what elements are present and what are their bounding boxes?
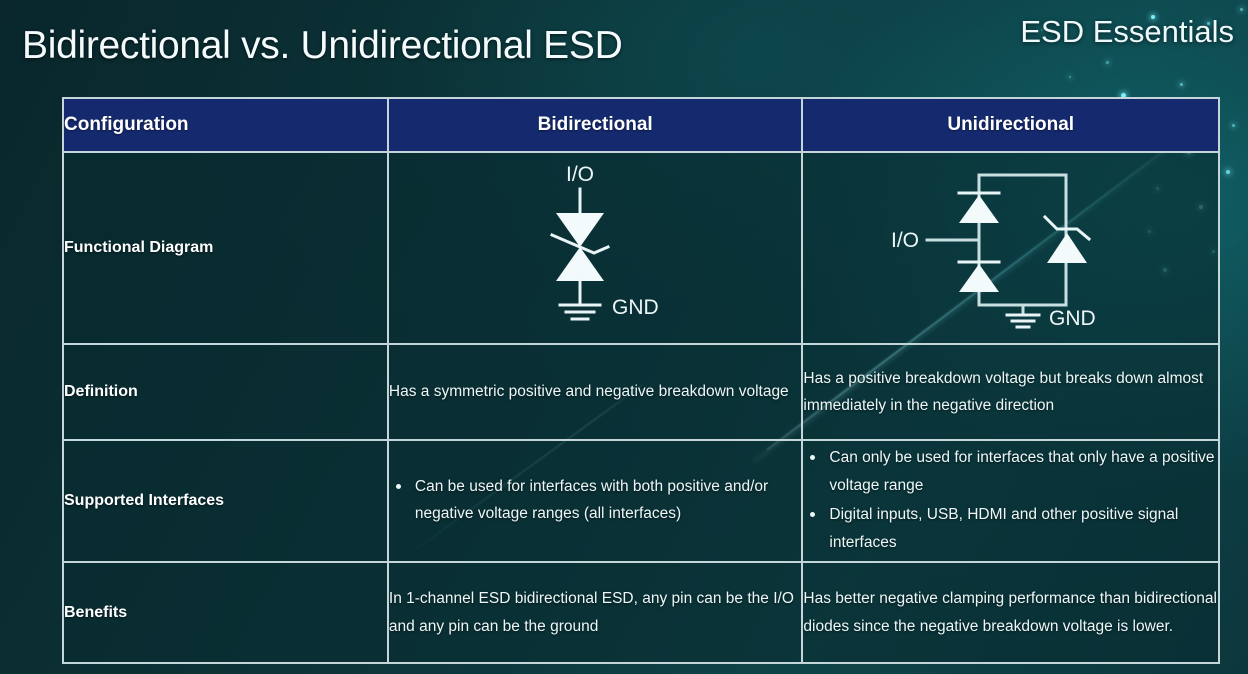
bidirectional-tvs-diode-schematic: I/O xyxy=(480,155,710,335)
list-item: Can only be used for interfaces that onl… xyxy=(803,444,1218,499)
gnd-label-bi: GND xyxy=(612,296,659,319)
cell-bidirectional-definition: Has a symmetric positive and negative br… xyxy=(388,344,802,440)
table-header-row: Configuration Bidirectional Unidirection… xyxy=(63,98,1219,152)
star-dot xyxy=(1069,76,1071,78)
star-dot xyxy=(1226,170,1230,174)
list-item: Digital inputs, USB, HDMI and other posi… xyxy=(803,501,1218,556)
star-dot xyxy=(1240,8,1243,11)
column-header-bidirectional: Bidirectional xyxy=(388,98,802,152)
column-header-configuration: Configuration xyxy=(63,98,388,152)
bullet-list: Can only be used for interfaces that onl… xyxy=(803,444,1218,556)
row-label-functional-diagram: Functional Diagram xyxy=(63,152,388,344)
gnd-label-uni: GND xyxy=(1049,307,1096,330)
comparison-table: Configuration Bidirectional Unidirection… xyxy=(62,97,1220,664)
column-header-unidirectional: Unidirectional xyxy=(802,98,1219,152)
cell-unidirectional-diagram: I/O xyxy=(802,152,1219,344)
table-row: Definition Has a symmetric positive and … xyxy=(63,344,1219,440)
cell-unidirectional-benefits: Has better negative clamping performance… xyxy=(802,562,1219,663)
cell-bidirectional-benefits: In 1-channel ESD bidirectional ESD, any … xyxy=(388,562,802,663)
star-dot xyxy=(1180,83,1183,86)
cell-bidirectional-interfaces: Can be used for interfaces with both pos… xyxy=(388,440,802,562)
table-row: Benefits In 1-channel ESD bidirectional … xyxy=(63,562,1219,663)
row-label-supported-interfaces: Supported Interfaces xyxy=(63,440,388,562)
comparison-table-wrapper: Configuration Bidirectional Unidirection… xyxy=(62,97,1220,664)
io-label-uni: I/O xyxy=(891,229,919,252)
row-label-definition: Definition xyxy=(63,344,388,440)
list-item: Can be used for interfaces with both pos… xyxy=(389,473,801,528)
slide-canvas: Bidirectional vs. Unidirectional ESD ESD… xyxy=(0,0,1248,674)
row-label-benefits: Benefits xyxy=(63,562,388,663)
star-dot xyxy=(1232,124,1235,127)
bullet-list: Can be used for interfaces with both pos… xyxy=(389,473,801,528)
cell-bidirectional-diagram: I/O xyxy=(388,152,802,344)
table-row: Supported Interfaces Can be used for int… xyxy=(63,440,1219,562)
cell-unidirectional-interfaces: Can only be used for interfaces that onl… xyxy=(802,440,1219,562)
cell-unidirectional-definition: Has a positive breakdown voltage but bre… xyxy=(802,344,1219,440)
series-kicker: ESD Essentials xyxy=(1020,14,1234,50)
page-title: Bidirectional vs. Unidirectional ESD xyxy=(22,24,622,68)
table-row: Functional Diagram I/O xyxy=(63,152,1219,344)
unidirectional-steering-diode-schematic: I/O xyxy=(861,155,1161,335)
io-label-bi: I/O xyxy=(566,163,594,186)
star-dot xyxy=(1106,61,1109,64)
